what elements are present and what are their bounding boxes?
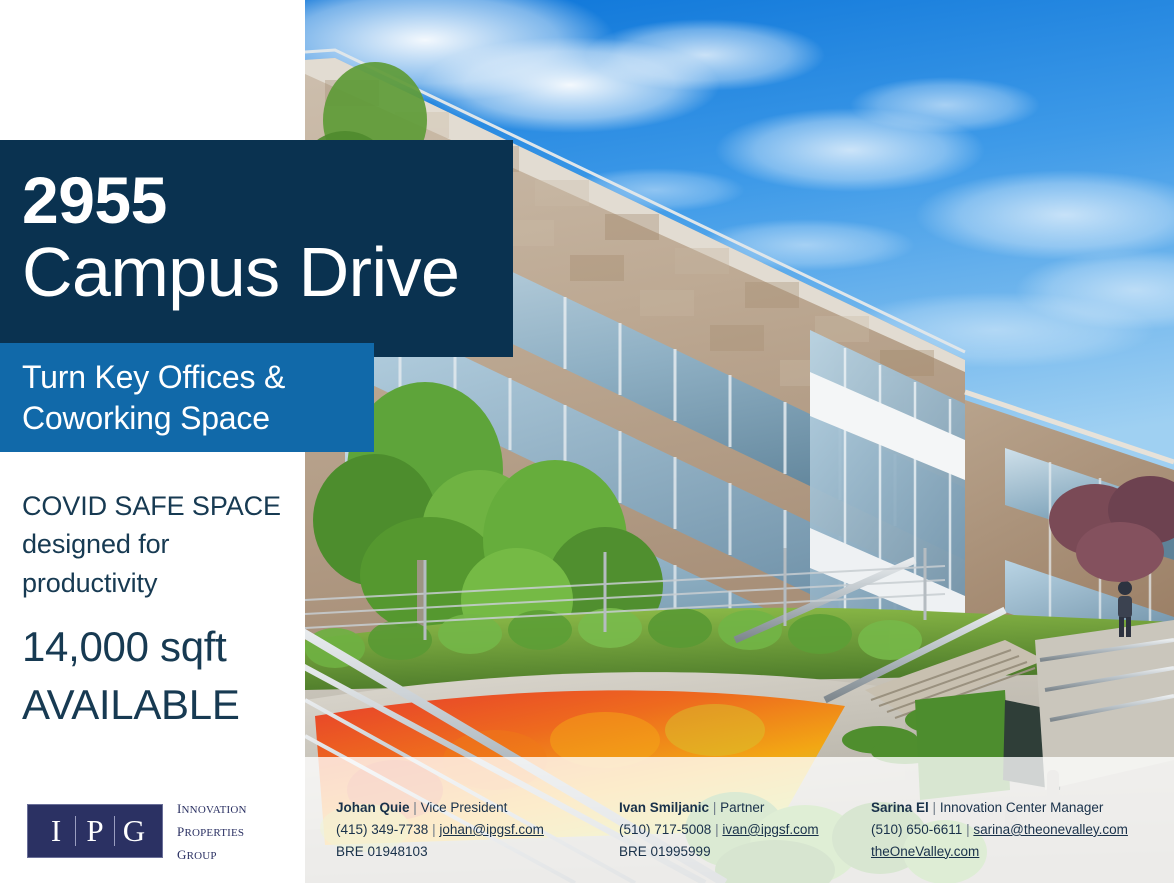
contact-separator: | <box>432 822 436 837</box>
contact-phone-email-line: (510) 717-5008 | ivan@ipgsf.com <box>619 819 819 841</box>
ipg-word-innovation: Innovation <box>177 796 247 819</box>
contact-card: Sarina El | Innovation Center Manager (5… <box>871 797 1128 863</box>
ipg-logo: I P G Innovation Properties Group <box>27 796 247 866</box>
contact-name-role-line: Ivan Smiljanic | Partner <box>619 797 819 819</box>
address-street: Campus Drive <box>22 237 513 308</box>
ipg-letter-p: P <box>76 815 114 846</box>
contact-role: Partner <box>720 800 764 815</box>
subtitle-line-1: Turn Key Offices & <box>22 357 374 398</box>
contact-phone-email-line: (510) 650-6611 | sarina@theonevalley.com <box>871 819 1128 841</box>
contact-phone[interactable]: (415) 349-7738 <box>336 822 428 837</box>
contact-footer: Johan Quie | Vice President (415) 349-77… <box>305 757 1174 883</box>
contact-license: BRE 01948103 <box>336 841 544 863</box>
subtitle-line-2: Coworking Space <box>22 398 374 439</box>
property-photo <box>305 0 1174 883</box>
contact-name: Sarina El <box>871 800 929 815</box>
contact-website-link[interactable]: theOneValley.com <box>871 841 1128 863</box>
contact-separator: | <box>413 800 417 815</box>
contact-phone-email-line: (415) 349-7738 | johan@ipgsf.com <box>336 819 544 841</box>
covid-info-line-3: productivity <box>22 564 302 602</box>
contact-license: BRE 01995999 <box>619 841 819 863</box>
address-number: 2955 <box>22 168 513 233</box>
covid-info-line-1: COVID SAFE SPACE <box>22 487 302 525</box>
contact-email-link[interactable]: johan@ipgsf.com <box>439 822 544 837</box>
ipg-word-properties: Properties <box>177 819 247 842</box>
contact-name: Ivan Smiljanic <box>619 800 709 815</box>
contact-card: Ivan Smiljanic | Partner (510) 717-5008 … <box>619 797 819 863</box>
ipg-word-group: Group <box>177 842 247 865</box>
covid-info-block: COVID SAFE SPACE designed for productivi… <box>22 487 302 602</box>
contact-name-role-line: Sarina El | Innovation Center Manager <box>871 797 1128 819</box>
contact-separator: | <box>966 822 970 837</box>
ipg-letter-i: I <box>37 815 75 846</box>
availability-block: 14,000 sqft AVAILABLE <box>22 618 312 733</box>
property-flyer: ONEVALLEY San Mateo, CA 2955 Campus Driv… <box>0 0 1174 883</box>
available-label: AVAILABLE <box>22 676 312 734</box>
covid-info-line-2: designed for <box>22 525 302 563</box>
contact-name: Johan Quie <box>336 800 410 815</box>
contact-role: Vice President <box>421 800 508 815</box>
contact-phone[interactable]: (510) 650-6611 <box>871 822 962 837</box>
address-headline-block: 2955 Campus Drive <box>0 140 513 357</box>
contact-separator: | <box>933 800 937 815</box>
contact-card: Johan Quie | Vice President (415) 349-77… <box>336 797 544 863</box>
contact-phone[interactable]: (510) 717-5008 <box>619 822 711 837</box>
contact-separator: | <box>715 822 719 837</box>
ipg-letter-g: G <box>115 815 153 846</box>
contact-role: Innovation Center Manager <box>940 800 1104 815</box>
available-sqft: 14,000 sqft <box>22 618 312 676</box>
subtitle-band: Turn Key Offices & Coworking Space <box>0 343 374 452</box>
contact-name-role-line: Johan Quie | Vice President <box>336 797 544 819</box>
ipg-logo-mark: I P G <box>27 804 163 858</box>
contact-email-link[interactable]: sarina@theonevalley.com <box>973 822 1128 837</box>
ipg-logo-words: Innovation Properties Group <box>177 796 247 866</box>
contact-email-link[interactable]: ivan@ipgsf.com <box>722 822 818 837</box>
contact-separator: | <box>713 800 717 815</box>
